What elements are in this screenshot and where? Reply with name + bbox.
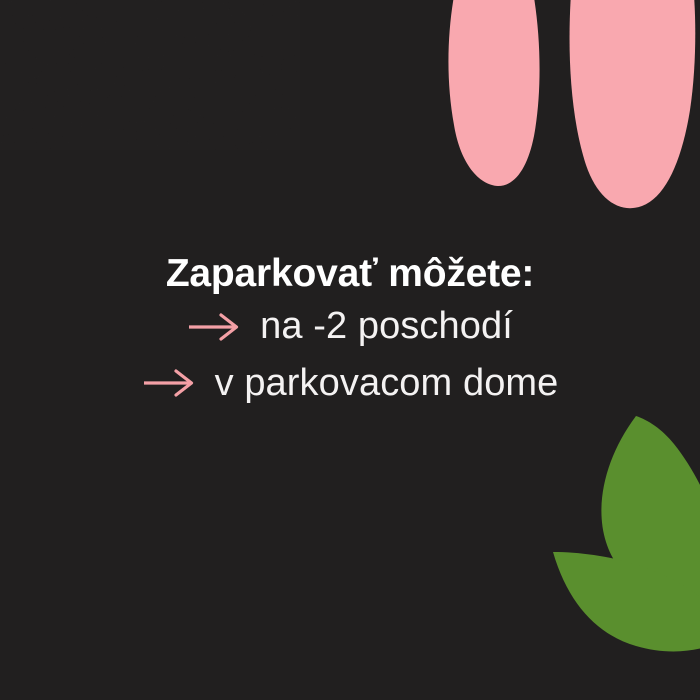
list-item: v parkovacom dome	[0, 362, 700, 406]
green-leaf-upper	[601, 416, 700, 602]
green-leaves-decoration	[530, 400, 700, 700]
pink-petal-right	[570, 0, 696, 208]
poster-text-block: Zaparkovať môžete: na -2 poschodí v park…	[0, 252, 700, 405]
list-item-label: na -2 poschodí	[260, 305, 513, 349]
paper-grain-texture	[0, 0, 300, 150]
headline-row: Zaparkovať môžete:	[0, 252, 700, 297]
pink-petals-decoration	[440, 0, 700, 240]
arrow-right-icon	[142, 368, 198, 398]
green-leaf-lower	[553, 552, 700, 651]
list-item-label: v parkovacom dome	[215, 362, 559, 406]
page-title: Zaparkovať môžete:	[166, 252, 534, 297]
parking-info-poster: Zaparkovať môžete: na -2 poschodí v park…	[0, 0, 700, 700]
list-item: na -2 poschodí	[0, 305, 700, 349]
pink-petal-left	[448, 0, 539, 186]
arrow-right-icon	[187, 312, 243, 342]
